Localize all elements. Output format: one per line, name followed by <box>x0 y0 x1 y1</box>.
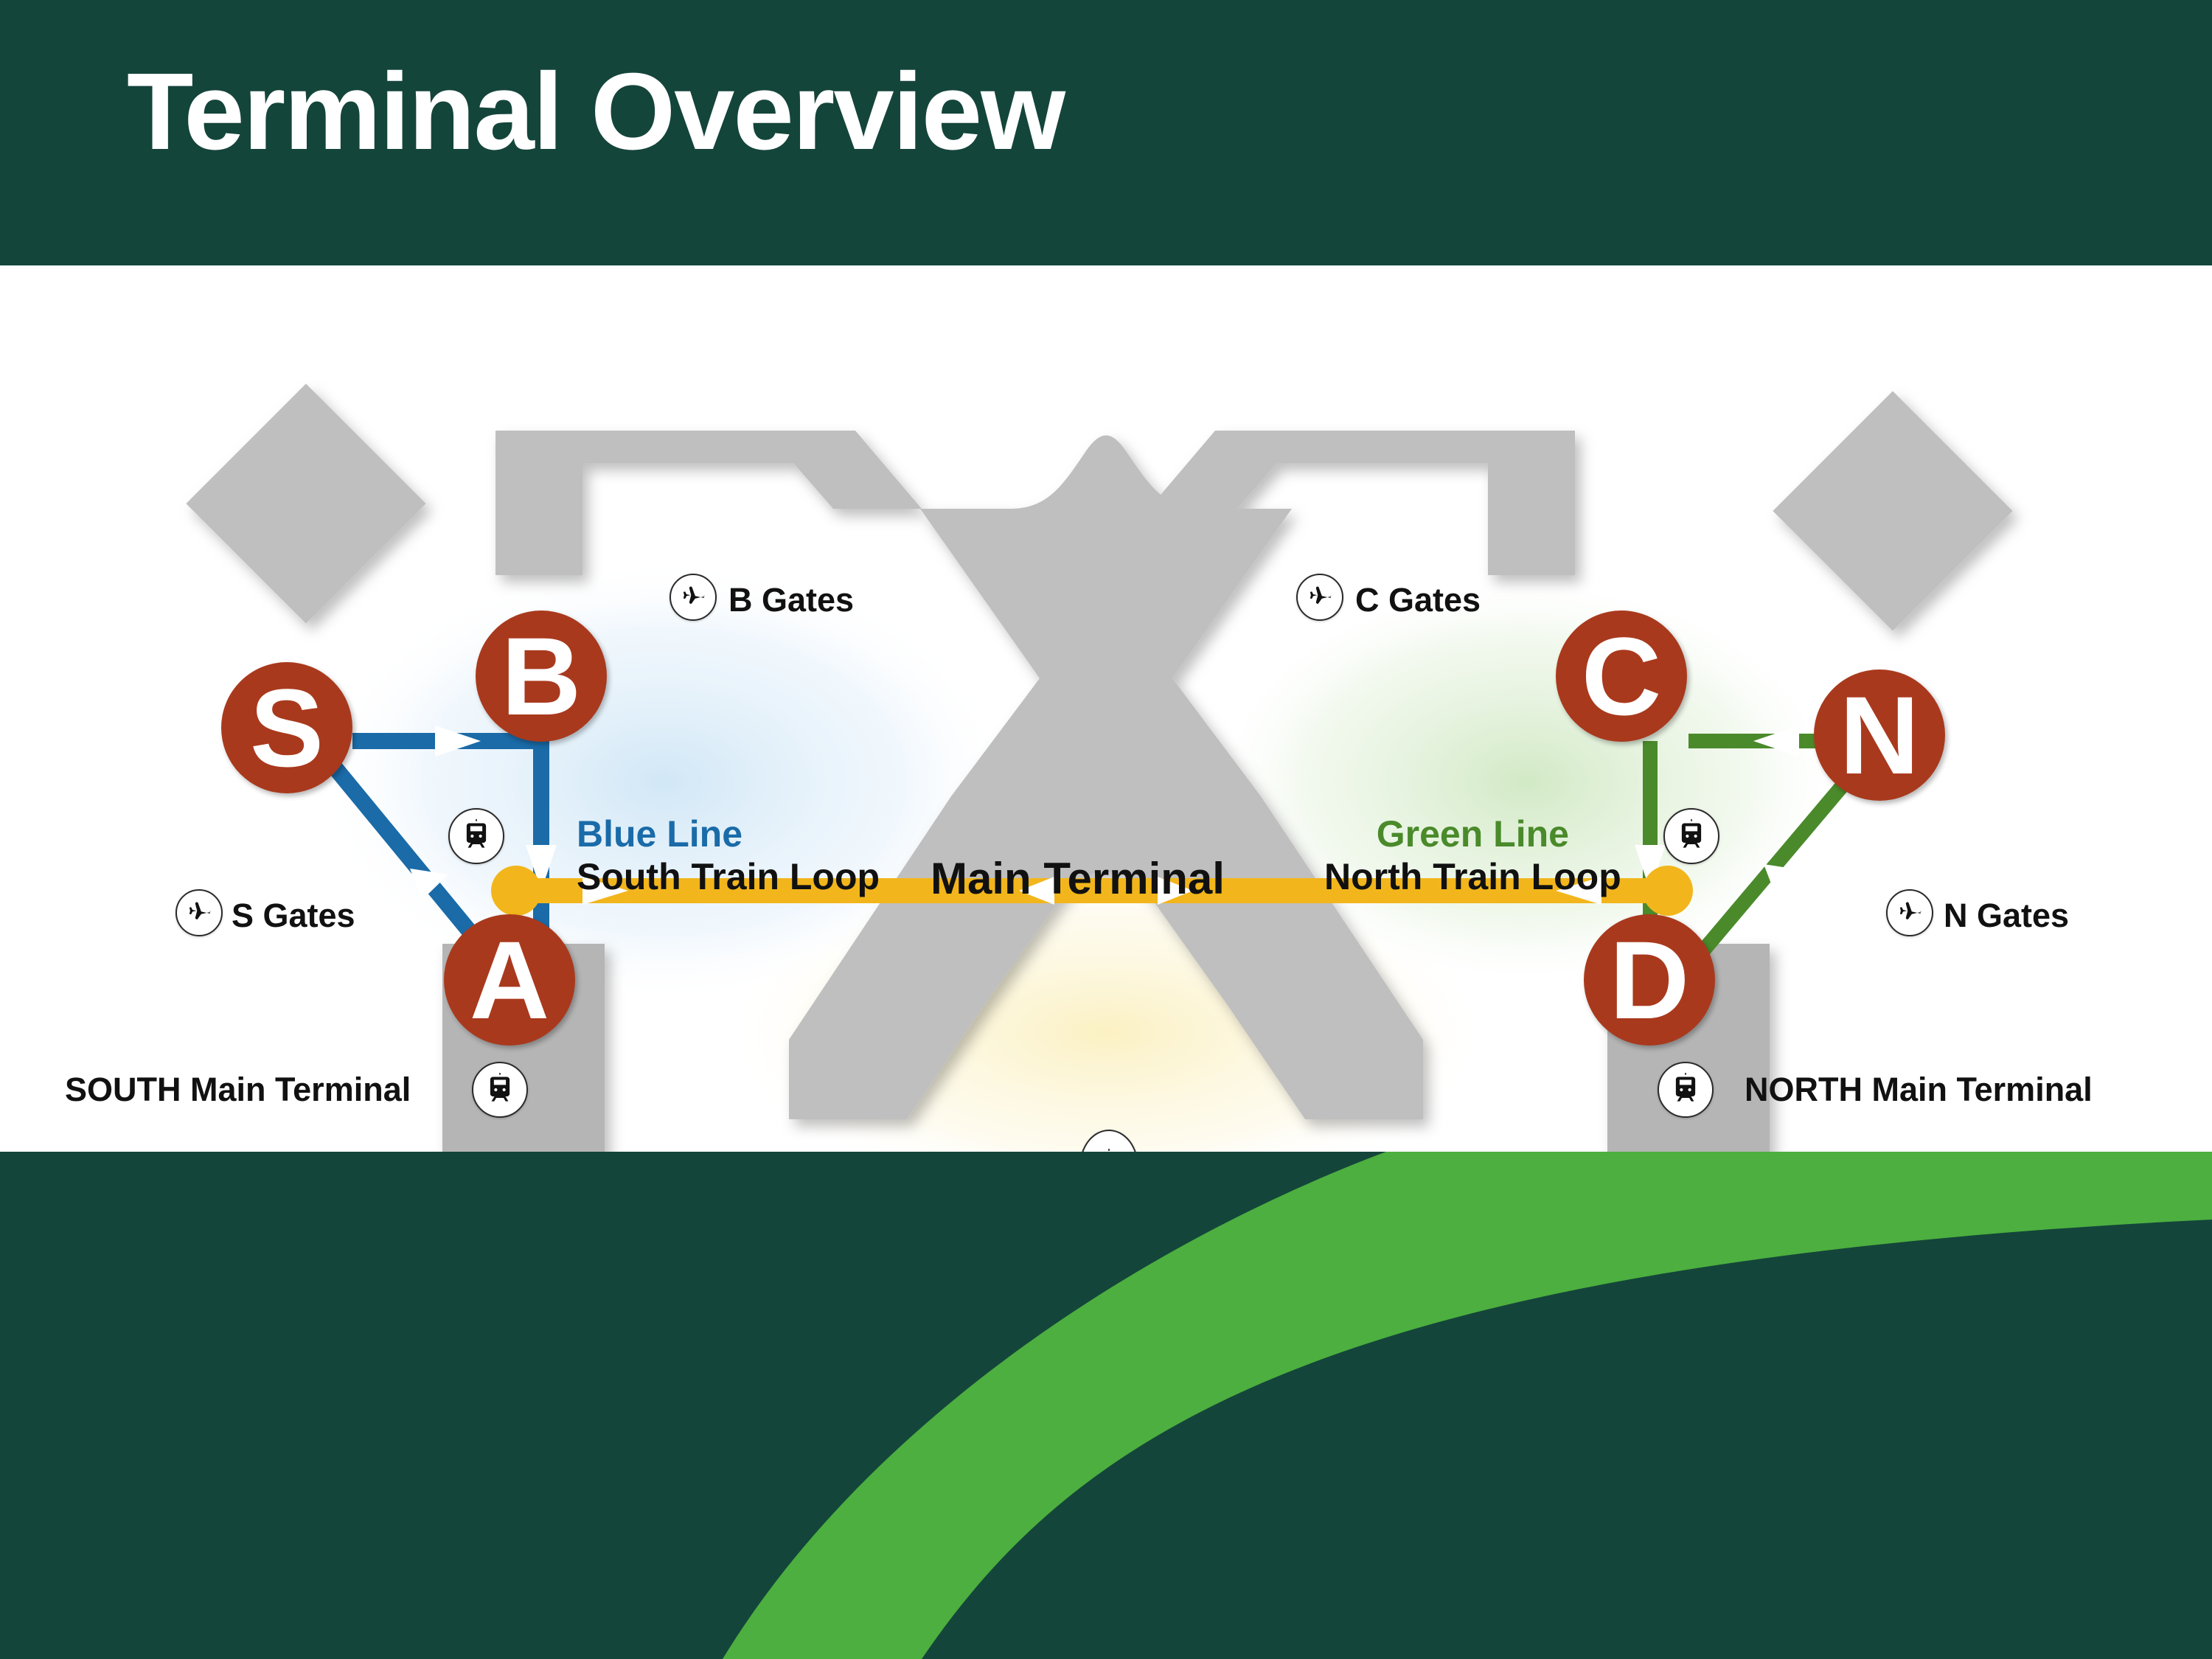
station-S-letter: S <box>250 672 324 783</box>
station-D-letter: D <box>1610 925 1689 1035</box>
yellow-terminus-d <box>1643 866 1693 916</box>
train-icon-blue-line <box>448 808 504 864</box>
station-D[interactable]: D <box>1584 914 1715 1046</box>
station-C-letter: C <box>1582 621 1661 731</box>
station-N-letter: N <box>1840 680 1919 790</box>
page-header: Terminal Overview <box>0 0 2212 265</box>
station-B-letter: B <box>501 621 581 731</box>
plane-icon-c-gates <box>1296 574 1343 621</box>
station-A[interactable]: A <box>444 914 575 1046</box>
n-satellite-shape <box>1773 391 2012 630</box>
gate-label-n-gates: N Gates <box>1944 898 2069 933</box>
green-swoosh-graphic <box>0 1152 2212 1659</box>
green-line-title: Green Line <box>1324 813 1621 855</box>
south-main-terminal-label: SOUTH Main Terminal <box>65 1072 411 1107</box>
train-icon-north-main-terminal <box>1658 1062 1714 1118</box>
station-N[interactable]: N <box>1814 669 1945 801</box>
station-S[interactable]: S <box>221 662 352 793</box>
page-title: Terminal Overview <box>127 58 1064 167</box>
train-icon-south-main-terminal <box>472 1062 528 1118</box>
gate-label-c-gates: C Gates <box>1355 582 1481 617</box>
s-satellite-shape <box>186 383 425 623</box>
gate-label-s-gates: S Gates <box>232 898 355 933</box>
green-line-subtitle: North Train Loop <box>1324 855 1621 898</box>
blue-line-title: Blue Line <box>577 813 880 855</box>
north-main-terminal-label: NORTH Main Terminal <box>1745 1072 2093 1107</box>
blue-line-legend: Blue Line South Train Loop <box>577 813 880 898</box>
yellow-terminus-a <box>491 866 541 916</box>
train-icon-green-line <box>1663 808 1719 864</box>
station-A-letter: A <box>470 925 549 1035</box>
station-C[interactable]: C <box>1556 611 1687 742</box>
page-footer: Train System Map SEA Seattle-Tacoma Inte… <box>0 1152 2212 1659</box>
blue-line-subtitle: South Train Loop <box>577 855 880 898</box>
green-line-legend: Green Line North Train Loop <box>1324 813 1621 898</box>
gate-label-b-gates: B Gates <box>728 582 854 617</box>
station-B[interactable]: B <box>476 611 607 742</box>
plane-icon-s-gates <box>175 889 223 936</box>
terminal-map: S B A C D N S Gates B Gates A Gates C Ga… <box>0 265 2212 1152</box>
plane-icon-n-gates <box>1886 889 1933 936</box>
b-concourse-shape <box>495 431 922 575</box>
main-terminal-label: Main Terminal <box>931 855 1225 902</box>
plane-icon-b-gates <box>669 574 717 621</box>
